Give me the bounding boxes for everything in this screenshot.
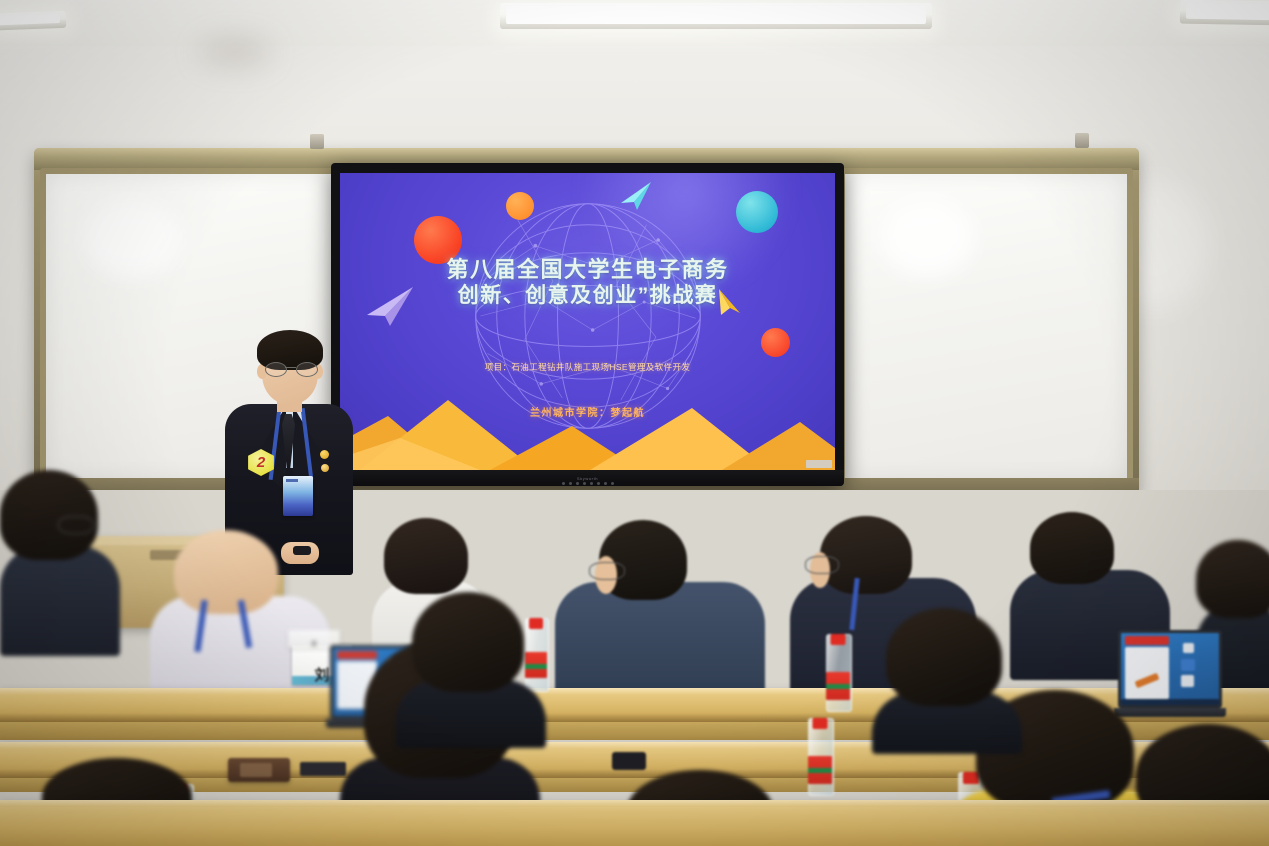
student-mid-left (396, 592, 546, 742)
wall-mark (200, 40, 270, 64)
presenter-lapel-pin (320, 450, 329, 459)
student-mid-right (872, 608, 1022, 748)
water-bottle[interactable] (808, 718, 832, 794)
audience-far-left (0, 470, 120, 650)
desk-row-front (0, 800, 1269, 846)
display-button[interactable] (583, 482, 586, 485)
classroom-presentation-photo: 第八届全国大学生电子商务 创新、创意及创业”挑战赛 项目：石油工程钻井队施工现场… (0, 0, 1269, 846)
ceiling-light-right (1180, 0, 1269, 26)
display-ir-sensor (806, 460, 832, 468)
presentation-slide: 第八届全国大学生电子商务 创新、创意及创业”挑战赛 项目：石油工程钻井队施工现场… (340, 173, 835, 470)
display-button-row[interactable] (562, 482, 614, 485)
desk-wallet[interactable] (228, 758, 290, 782)
desk-phone[interactable] (612, 752, 646, 770)
judge-center (555, 520, 765, 710)
water-bottle[interactable] (826, 634, 850, 710)
display-button[interactable] (576, 482, 579, 485)
placard-name: 文 (311, 639, 317, 648)
display-button[interactable] (611, 482, 614, 485)
slide-team-line: 兰州城市学院：梦起航 (340, 404, 835, 419)
display-button[interactable] (562, 482, 565, 485)
display-button[interactable] (597, 482, 600, 485)
interactive-display[interactable]: 第八届全国大学生电子商务 创新、创意及创业”挑战赛 项目：石油工程钻井队施工现场… (331, 163, 844, 486)
display-button[interactable] (569, 482, 572, 485)
whiteboard-glare (879, 198, 975, 277)
presenter-lapel-pin-second (321, 464, 329, 472)
presenter-glasses-icon (265, 362, 316, 375)
whiteboard-glare (82, 198, 183, 277)
board-bracket-left (310, 134, 324, 149)
slide-project-line: 项目：石油工程钻井队施工现场HSE管理及软件开发 (340, 361, 835, 373)
slide-text-block: 第八届全国大学生电子商务 创新、创意及创业”挑战赛 项目：石油工程钻井队施工现场… (340, 173, 835, 470)
placard-name: 刘 (314, 664, 329, 685)
ceiling-light-center (500, 3, 932, 29)
whiteboard-right[interactable] (839, 168, 1133, 485)
board-bracket-right (1075, 133, 1089, 148)
display-brand-label: Skyworth (577, 476, 598, 481)
display-button[interactable] (604, 482, 607, 485)
slide-title-line2: 创新、创意及创业”挑战赛 (340, 279, 835, 309)
presenter-id-badge (283, 476, 313, 516)
display-button[interactable] (590, 482, 593, 485)
